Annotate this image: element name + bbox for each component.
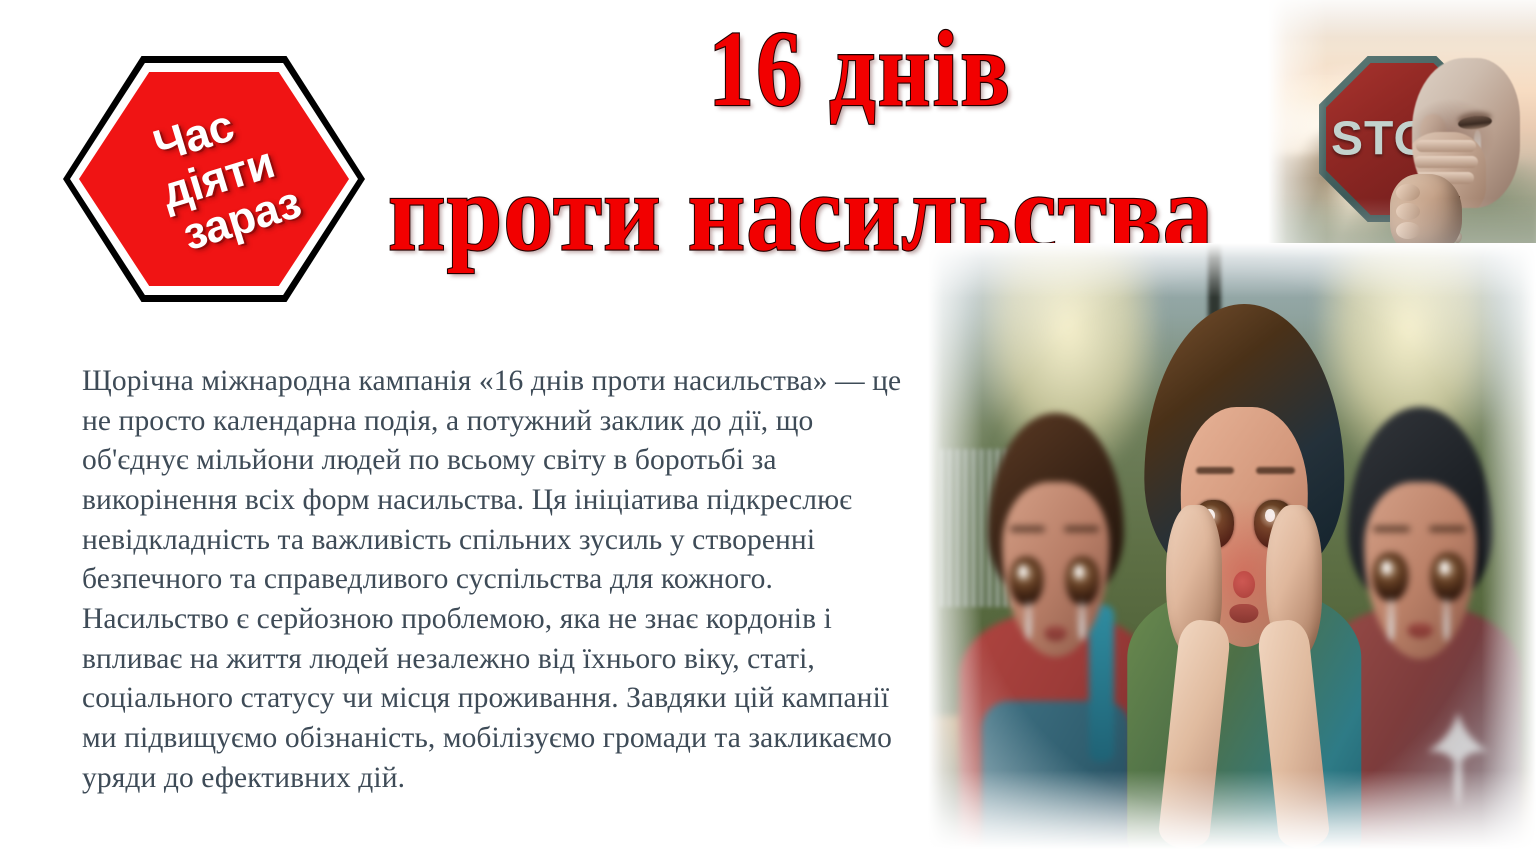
face-finger <box>1416 140 1476 152</box>
wing-emblem-icon <box>1413 704 1503 814</box>
child-left-brow <box>1064 526 1099 532</box>
crying-children-photo <box>928 243 1536 849</box>
poster-headline: 16 днів проти насильства <box>380 14 1340 258</box>
child-left-brow <box>1010 526 1045 532</box>
child-right-brow <box>1429 526 1466 532</box>
time-to-act-badge: Час діяти зараз <box>63 56 365 302</box>
child-center-brow <box>1196 467 1235 474</box>
headline-line-1: 16 днів <box>380 14 1340 123</box>
child-left-tear <box>1078 600 1085 639</box>
badge-text: Час діяти зараз <box>34 17 395 341</box>
child-center <box>1123 304 1366 849</box>
child-left-eye <box>1066 557 1099 605</box>
child-left-eye <box>1010 557 1043 605</box>
poster-slide: STOP Час дія <box>0 0 1536 864</box>
child-center-brow <box>1256 467 1295 474</box>
body-paragraph: Щорічна міжнародна кампанія «16 днів про… <box>82 362 927 798</box>
child-right-mouth <box>1408 623 1433 637</box>
face-finger <box>1414 156 1478 168</box>
holding-fist <box>1390 174 1462 254</box>
child-right-eye <box>1373 553 1408 602</box>
child-right-eye <box>1431 553 1466 602</box>
child-left-backpack-strap <box>1089 605 1114 762</box>
child-left-mouth <box>1044 626 1067 641</box>
child-right-brow <box>1373 526 1410 532</box>
face-eye <box>1457 114 1492 130</box>
